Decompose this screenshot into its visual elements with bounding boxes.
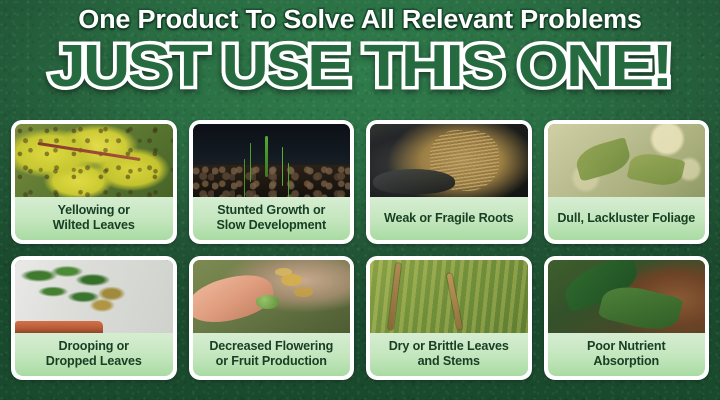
problem-card[interactable]: Poor NutrientAbsorption bbox=[544, 256, 710, 380]
card-label: Drooping orDropped Leaves bbox=[15, 333, 173, 376]
card-label: Weak or Fragile Roots bbox=[370, 197, 528, 240]
problem-card[interactable]: Decreased Floweringor Fruit Production bbox=[189, 256, 355, 380]
card-label-text: Stunted Growth orSlow Development bbox=[216, 203, 326, 233]
card-label-text: Yellowing orWilted Leaves bbox=[53, 203, 135, 233]
card-label-text: Poor NutrientAbsorption bbox=[587, 339, 666, 369]
card-photo bbox=[548, 260, 706, 333]
card-photo bbox=[370, 124, 528, 197]
card-label-text: Dull, Lackluster Foliage bbox=[557, 211, 695, 226]
problem-card[interactable]: Dull, Lackluster Foliage bbox=[544, 120, 710, 244]
card-label: Stunted Growth orSlow Development bbox=[193, 197, 351, 240]
nutrient-deficient-leaves-photo bbox=[548, 260, 706, 333]
problem-card[interactable]: Drooping orDropped Leaves bbox=[11, 256, 177, 380]
promo-banner: One Product To Solve All Relevant Proble… bbox=[0, 0, 720, 400]
problem-card[interactable]: Yellowing orWilted Leaves bbox=[11, 120, 177, 244]
dull-maple-foliage-photo bbox=[548, 124, 706, 197]
card-label-text: Decreased Floweringor Fruit Production bbox=[209, 339, 333, 369]
drooping-potted-plant-photo bbox=[15, 260, 173, 333]
dry-brittle-stems-photo bbox=[370, 260, 528, 333]
card-photo bbox=[370, 260, 528, 333]
problem-card[interactable]: Stunted Growth orSlow Development bbox=[189, 120, 355, 244]
card-label-text: Drooping orDropped Leaves bbox=[46, 339, 142, 369]
card-label-text: Weak or Fragile Roots bbox=[384, 211, 514, 226]
card-label: Yellowing orWilted Leaves bbox=[15, 197, 173, 240]
exposed-root-ball-photo bbox=[370, 124, 528, 197]
card-label: Poor NutrientAbsorption bbox=[548, 333, 706, 376]
card-photo bbox=[15, 260, 173, 333]
card-label: Dull, Lackluster Foliage bbox=[548, 197, 706, 240]
card-label-text: Dry or Brittle Leavesand Stems bbox=[389, 339, 509, 369]
seedling-in-dark-soil-photo bbox=[193, 124, 351, 197]
card-photo bbox=[193, 260, 351, 333]
headline-title: JUST USE THIS ONE! bbox=[0, 33, 720, 99]
problem-card[interactable]: Dry or Brittle Leavesand Stems bbox=[366, 256, 532, 380]
yellowing-spotted-leaves-photo bbox=[15, 124, 173, 197]
headline-subtitle: One Product To Solve All Relevant Proble… bbox=[0, 5, 720, 35]
card-photo bbox=[15, 124, 173, 197]
problem-card[interactable]: Weak or Fragile Roots bbox=[366, 120, 532, 244]
hand-holding-small-fruit-photo bbox=[193, 260, 351, 333]
card-photo bbox=[193, 124, 351, 197]
card-photo bbox=[548, 124, 706, 197]
card-label: Dry or Brittle Leavesand Stems bbox=[370, 333, 528, 376]
problem-card-grid: Yellowing orWilted Leaves Stunted Growth… bbox=[0, 120, 720, 380]
card-label: Decreased Floweringor Fruit Production bbox=[193, 333, 351, 376]
banner-header: One Product To Solve All Relevant Proble… bbox=[0, 0, 720, 120]
